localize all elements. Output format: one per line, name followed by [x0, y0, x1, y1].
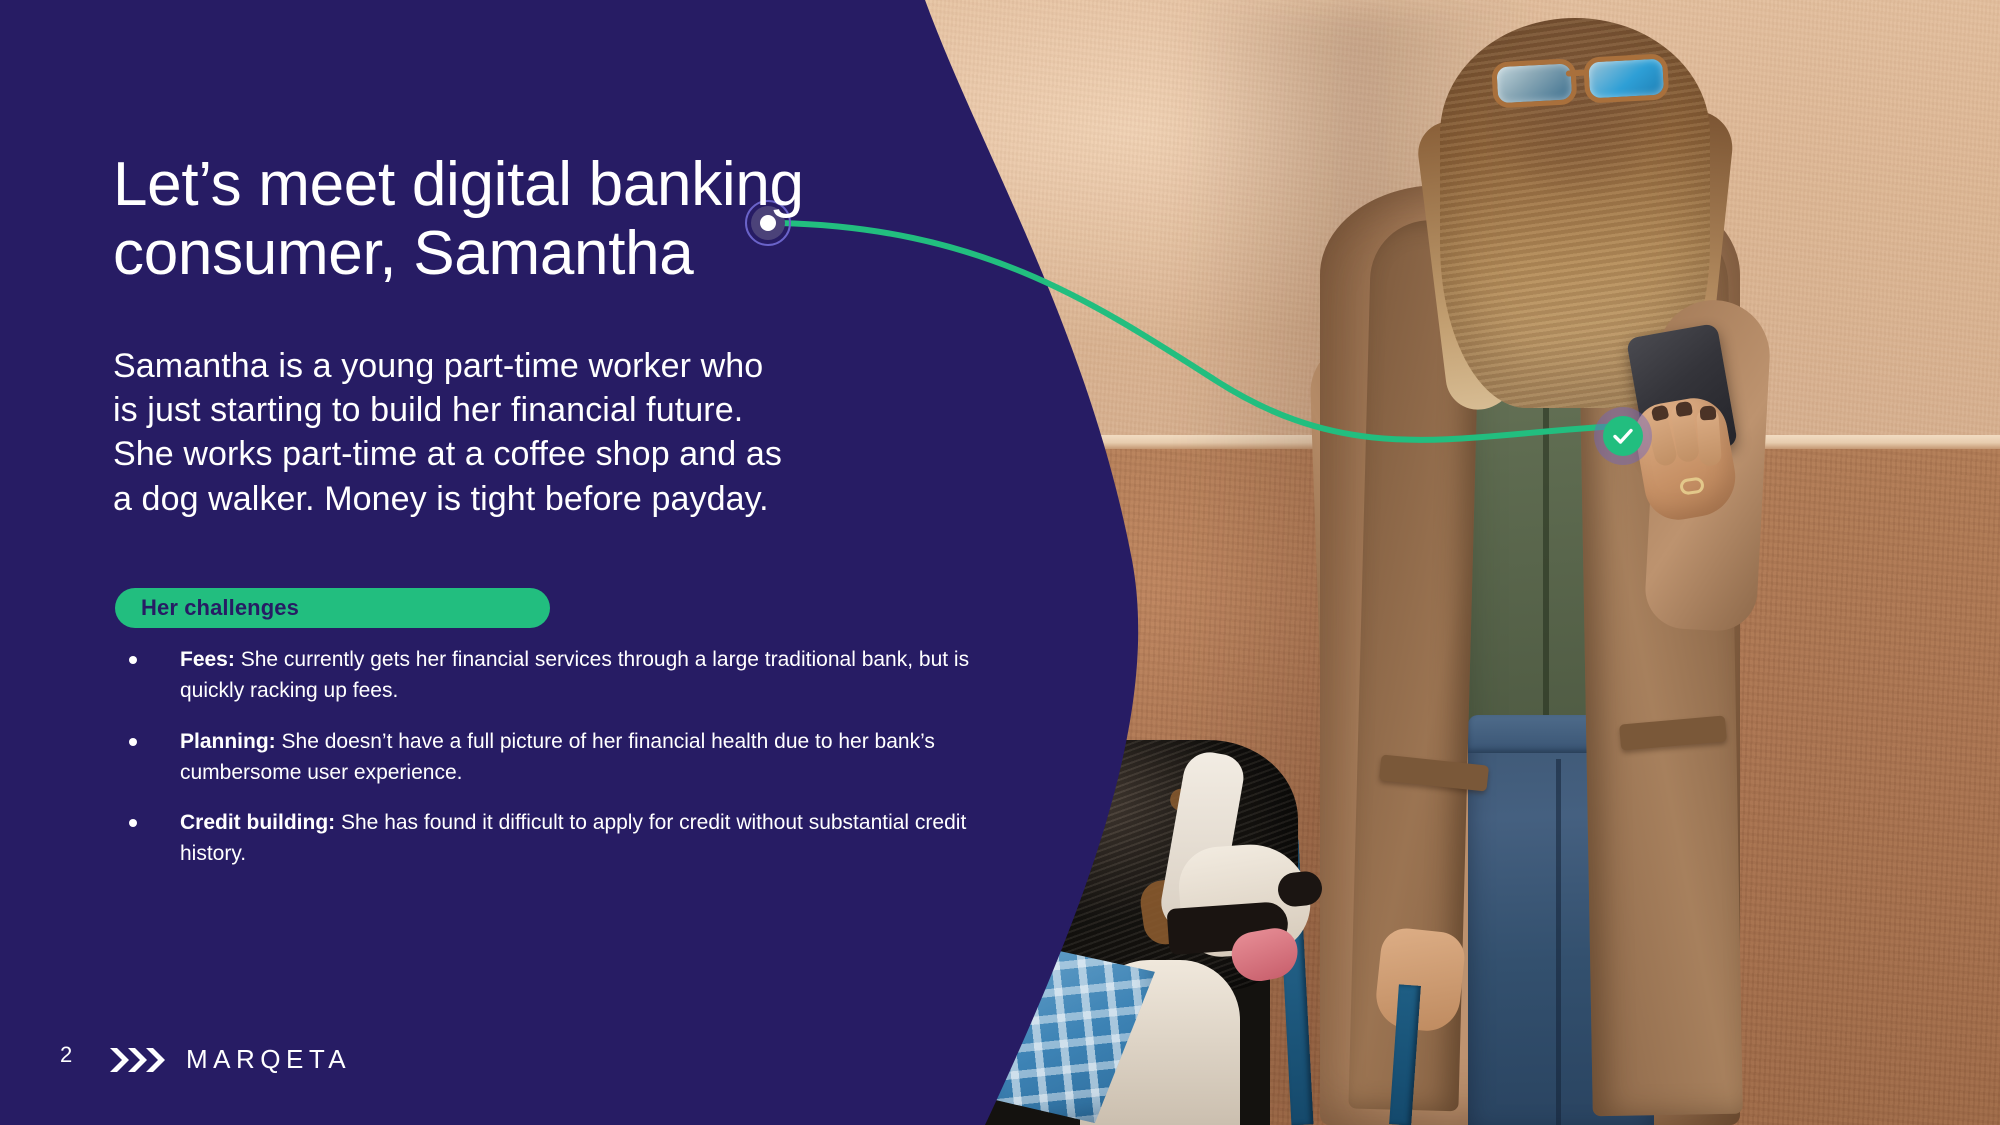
- bullet-dot: [129, 656, 137, 664]
- chevrons-icon: [108, 1046, 172, 1074]
- badge-label: Her challenges: [141, 595, 299, 621]
- her-challenges-badge: Her challenges: [115, 588, 550, 628]
- list-item: Fees: She currently gets her financial s…: [120, 645, 1000, 707]
- bullet-text: She doesn’t have a full picture of her f…: [180, 730, 935, 784]
- slide-footer: 2 MARQETA: [0, 1005, 1000, 1125]
- slide-title: Let’s meet digital banking consumer, Sam…: [113, 150, 883, 289]
- logo-wordmark: MARQETA: [186, 1044, 351, 1075]
- page-number: 2: [60, 1042, 72, 1068]
- connector-end-node: [1594, 407, 1652, 465]
- list-item: Credit building: She has found it diffic…: [120, 808, 1000, 870]
- bullet-lead: Fees:: [180, 648, 235, 671]
- bullet-dot: [129, 738, 137, 746]
- bullet-text: She currently gets her financial service…: [180, 648, 969, 702]
- check-circle: [1603, 416, 1643, 456]
- dog-nose: [1276, 870, 1323, 908]
- challenges-list: Fees: She currently gets her financial s…: [120, 645, 1000, 890]
- slide-canvas: Let’s meet digital banking consumer, Sam…: [0, 0, 2000, 1125]
- list-item: Planning: She doesn’t have a full pictur…: [120, 727, 1000, 789]
- bullet-lead: Planning:: [180, 730, 276, 753]
- marqeta-logo: MARQETA: [108, 1044, 351, 1075]
- slide-lede-paragraph: Samantha is a young part-time worker who…: [113, 344, 933, 521]
- slide-content: Let’s meet digital banking consumer, Sam…: [0, 0, 1000, 1125]
- bullet-lead: Credit building:: [180, 811, 335, 834]
- check-icon: [1611, 424, 1635, 448]
- bullet-dot: [129, 819, 137, 827]
